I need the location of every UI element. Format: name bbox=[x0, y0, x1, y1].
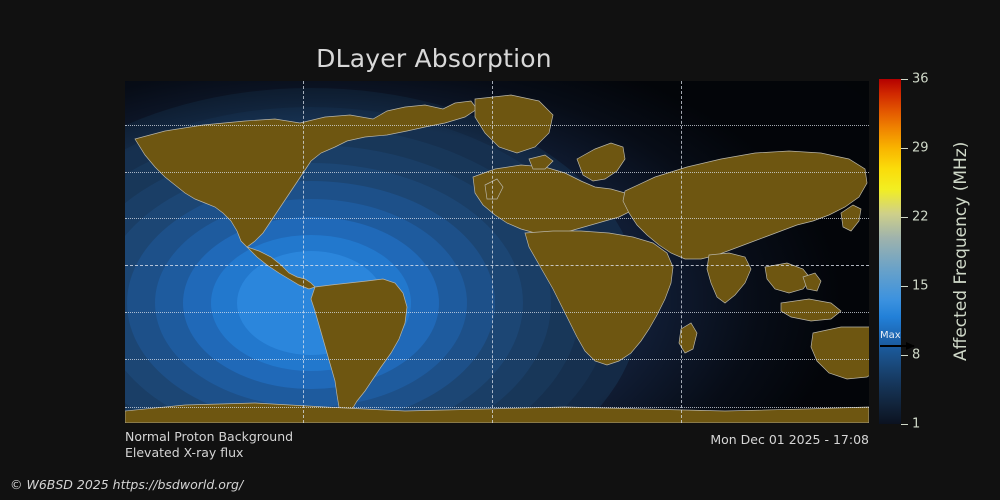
colorbar-tick-15 bbox=[901, 286, 908, 287]
colorbar-max-label: Max bbox=[880, 331, 901, 341]
xray-status-text: Elevated X-ray flux bbox=[125, 445, 293, 461]
land-central-america bbox=[247, 247, 315, 289]
colorbar-max-marker: Max bbox=[879, 331, 917, 357]
colorbar-gradient bbox=[879, 79, 901, 424]
colorbar-ticklabel-15: 15 bbox=[912, 279, 929, 294]
land-india bbox=[707, 253, 751, 303]
land-asia bbox=[623, 151, 867, 259]
colorbar[interactable]: 36 29 22 15 8 1 Max bbox=[879, 79, 901, 424]
colorbar-tick-36 bbox=[901, 79, 908, 80]
land-africa bbox=[525, 231, 673, 365]
land-scandinavia bbox=[577, 143, 625, 181]
colorbar-tick-22 bbox=[901, 217, 908, 218]
land-iceland bbox=[529, 155, 553, 169]
footer-credit: © W6BSD 2025 https://bsdworld.org/ bbox=[10, 477, 243, 492]
land-antarctica bbox=[125, 403, 869, 423]
land-south-america bbox=[311, 279, 407, 415]
map-canvas[interactable] bbox=[125, 81, 869, 423]
continents-layer bbox=[125, 81, 869, 423]
colorbar-axis-label: Affected Frequency (MHz) bbox=[951, 79, 971, 424]
colorbar-ticklabel-1: 1 bbox=[912, 417, 920, 432]
land-madagascar bbox=[679, 323, 697, 353]
land-indonesia bbox=[781, 299, 841, 321]
colorbar-tick-29 bbox=[901, 148, 908, 149]
land-north-america bbox=[135, 101, 477, 247]
land-japan bbox=[841, 205, 861, 231]
colorbar-ticklabel-36: 36 bbox=[912, 72, 929, 87]
land-australia bbox=[811, 327, 869, 379]
colorbar-ticklabel-22: 22 bbox=[912, 210, 929, 225]
timestamp-text: Mon Dec 01 2025 - 17:08 bbox=[125, 432, 869, 447]
colorbar-ticklabel-29: 29 bbox=[912, 141, 929, 156]
colorbar-tick-1 bbox=[901, 424, 908, 425]
page-title: DLayer Absorption bbox=[0, 44, 868, 73]
land-greenland bbox=[475, 95, 553, 153]
arrow-right-icon bbox=[880, 345, 914, 347]
